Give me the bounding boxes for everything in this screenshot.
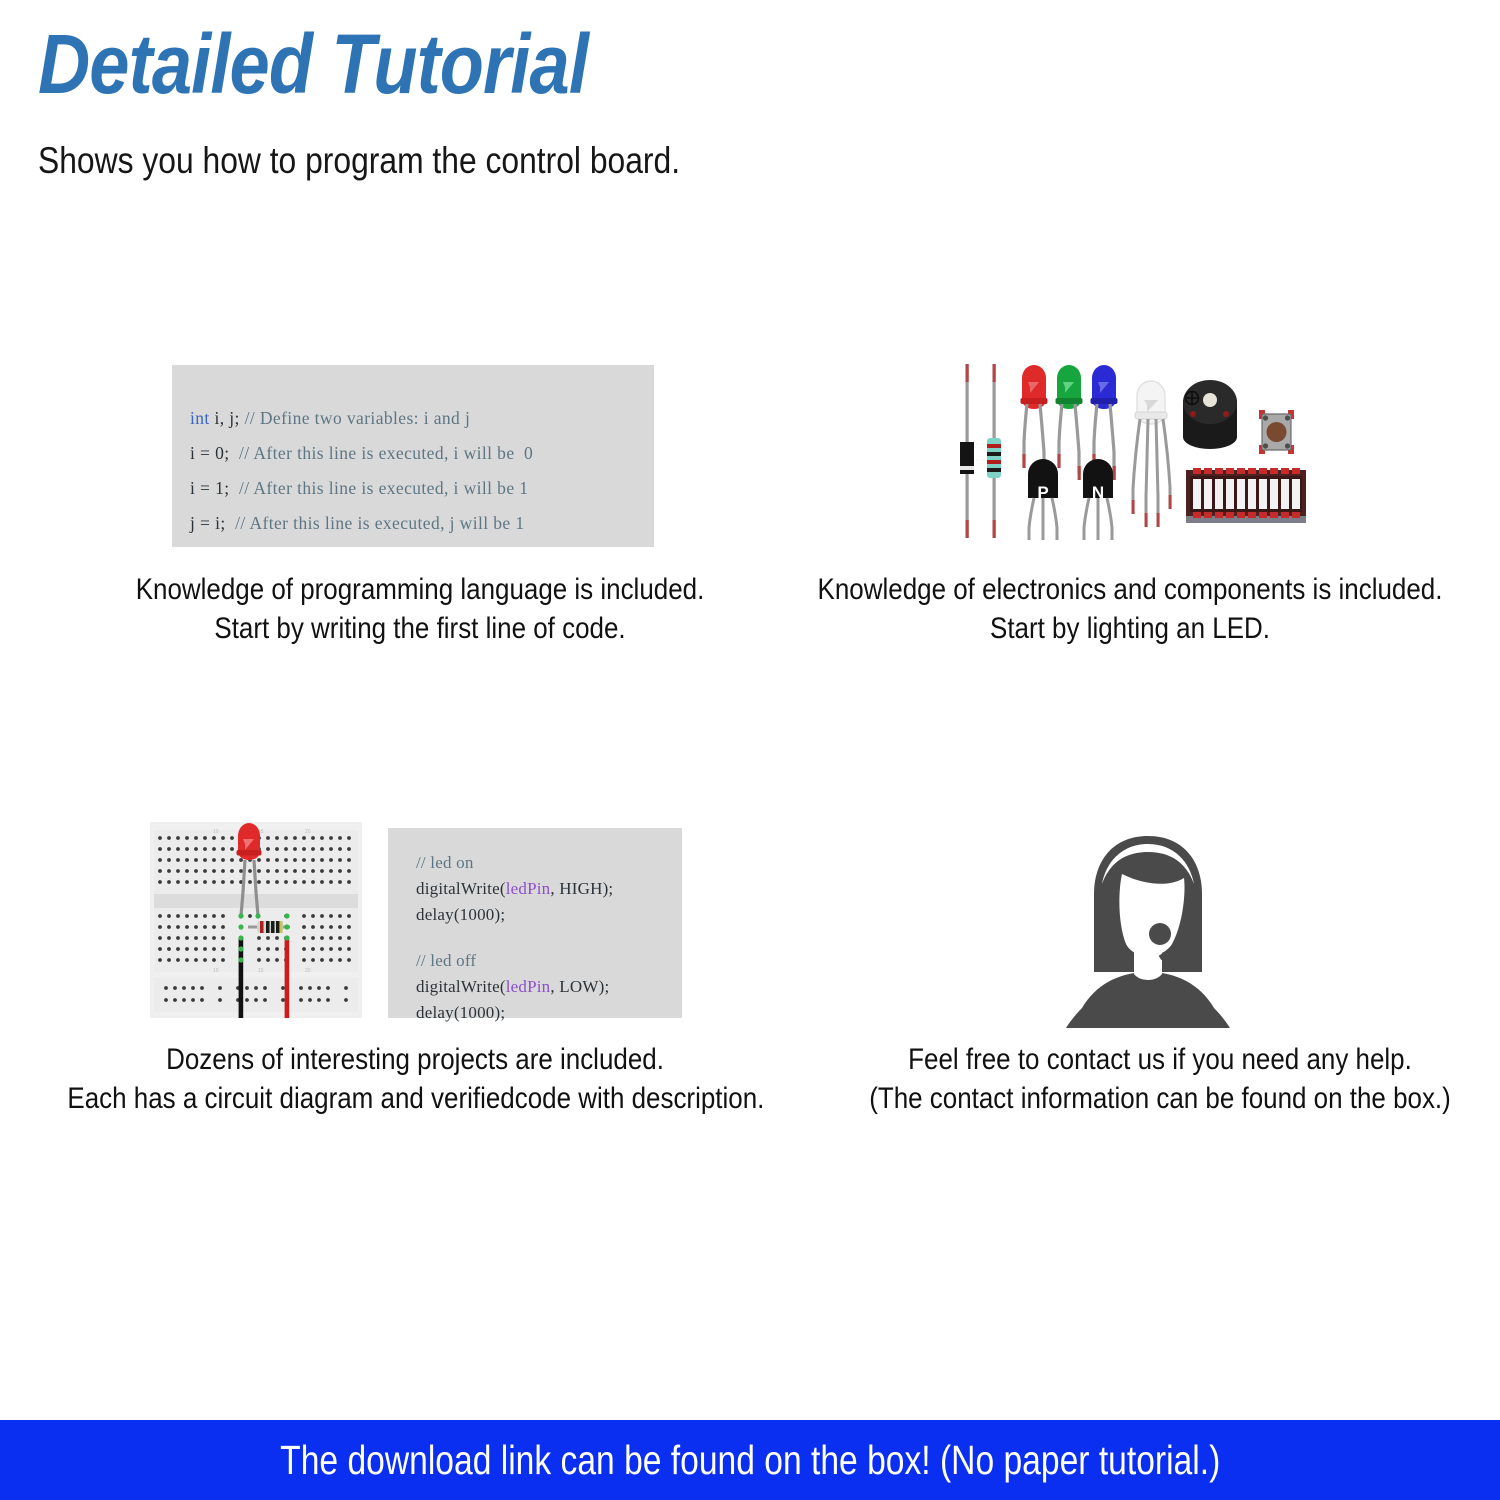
code-keyword: int [190,408,210,428]
footer-banner: The download link can be found on the bo… [0,1420,1500,1500]
breadboard-col-label: 20 [305,829,311,835]
code-text: i, j; [210,408,245,428]
caption-line: Knowledge of programming language is inc… [103,570,737,609]
electronic-components-figure: P N [952,362,1310,540]
caption-electronics-components: Knowledge of electronics and components … [750,570,1500,648]
led-red-on-breadboard [237,823,262,860]
code-text: i = 0; [190,443,239,463]
caption-programming-language: Knowledge of programming language is inc… [60,570,780,648]
code-comment-led-on: // led on [416,850,682,876]
transistor-pnp-icon: P [1028,459,1058,540]
code-line-3: i = 1; // After this line is executed, i… [190,471,654,506]
buzzer-icon [1183,380,1237,449]
page-title: Detailed Tutorial [38,22,588,106]
page-subtitle: Shows you how to program the control boa… [38,140,680,182]
code-text: j = i; [190,513,235,533]
caption-support: Feel free to contact us if you need any … [810,1040,1500,1118]
push-button-icon [1259,410,1294,454]
code-line-4: j = i; // After this line is executed, j… [190,506,654,541]
microphone-icon [1149,923,1171,945]
breadboard-row-label: 10 [213,968,219,974]
caption-projects: Dozens of interesting projects are inclu… [20,1040,810,1118]
code-variable: ledPin [506,977,551,996]
led-bar-graph-icon [1186,468,1306,523]
caption-line: (The contact information can be found on… [852,1079,1468,1118]
footer-banner-text: The download link can be found on the bo… [280,1437,1220,1484]
support-agent-headset-icon [1048,832,1248,1028]
caption-line: Start by lighting an LED. [796,609,1465,648]
breadboard-col-label: 10 [213,829,219,835]
caption-line: Knowledge of electronics and components … [796,570,1465,609]
code-snippet-led-blink: // led on digitalWrite(ledPin, HIGH); de… [388,828,682,1018]
resistor-icon [987,364,1001,538]
code-comment: // After this line is executed, j will b… [235,513,524,533]
code-line-1: int i, j; // Define two variables: i and… [190,401,654,436]
code-snippet-variables: int i, j; // Define two variables: i and… [172,365,654,547]
led-rgb-icon [1132,381,1172,527]
breadboard-row-label: 15 [258,968,264,974]
wire-positive [285,938,290,1018]
breadboard-row-label: 20 [305,968,311,974]
code-comment: // After this line is executed, i will b… [239,478,528,498]
code-comment-led-off: // led off [416,948,682,974]
caption-line: Dozens of interesting projects are inclu… [67,1040,762,1079]
code-comment: // After this line is executed, i will b… [239,443,533,463]
code-line-delay-on: delay(1000); [416,902,682,928]
caption-line: Each has a circuit diagram and verifiedc… [67,1079,762,1118]
led-green-icon [1056,365,1083,480]
code-variable: ledPin [506,879,551,898]
code-line-digitalwrite-low: digitalWrite(ledPin, LOW); [416,974,682,1000]
code-text: i = 1; [190,478,239,498]
breadboard-led-circuit-figure: 10 15 20 10 15 20 [150,822,362,1018]
code-comment: // Define two variables: i and j [245,408,471,428]
caption-line: Feel free to contact us if you need any … [852,1040,1468,1079]
caption-line: Start by writing the first line of code. [103,609,737,648]
code-blank-line [416,928,682,948]
code-line-2: i = 0; // After this line is executed, i… [190,436,654,471]
transistor-npn-icon: N [1083,459,1113,540]
code-line-digitalwrite-high: digitalWrite(ledPin, HIGH); [416,876,682,902]
diode-icon [960,364,974,538]
code-line-delay-off: delay(1000); [416,1000,682,1026]
